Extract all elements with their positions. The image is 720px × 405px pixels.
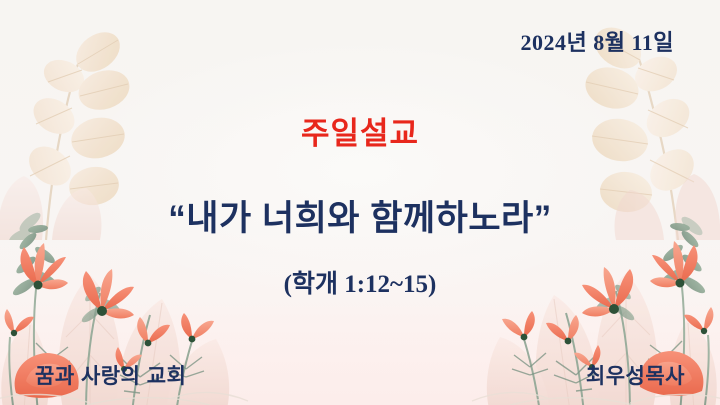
sermon-title-text: “내가 너희와 함께하노라” (0, 190, 720, 241)
speaker-name: 최우성목사 (586, 360, 685, 390)
sermon-date: 2024년 8월 11일 (520, 25, 674, 57)
sermon-title-card: 2024년 8월 11일 주일설교 “내가 너희와 함께하노라” (학개 1:1… (0, 0, 720, 405)
scripture-reference: (학개 1:12~15) (0, 264, 720, 300)
church-name: 꿈과 사랑의 교회 (35, 360, 186, 390)
sermon-type-label: 주일설교 (0, 108, 720, 153)
